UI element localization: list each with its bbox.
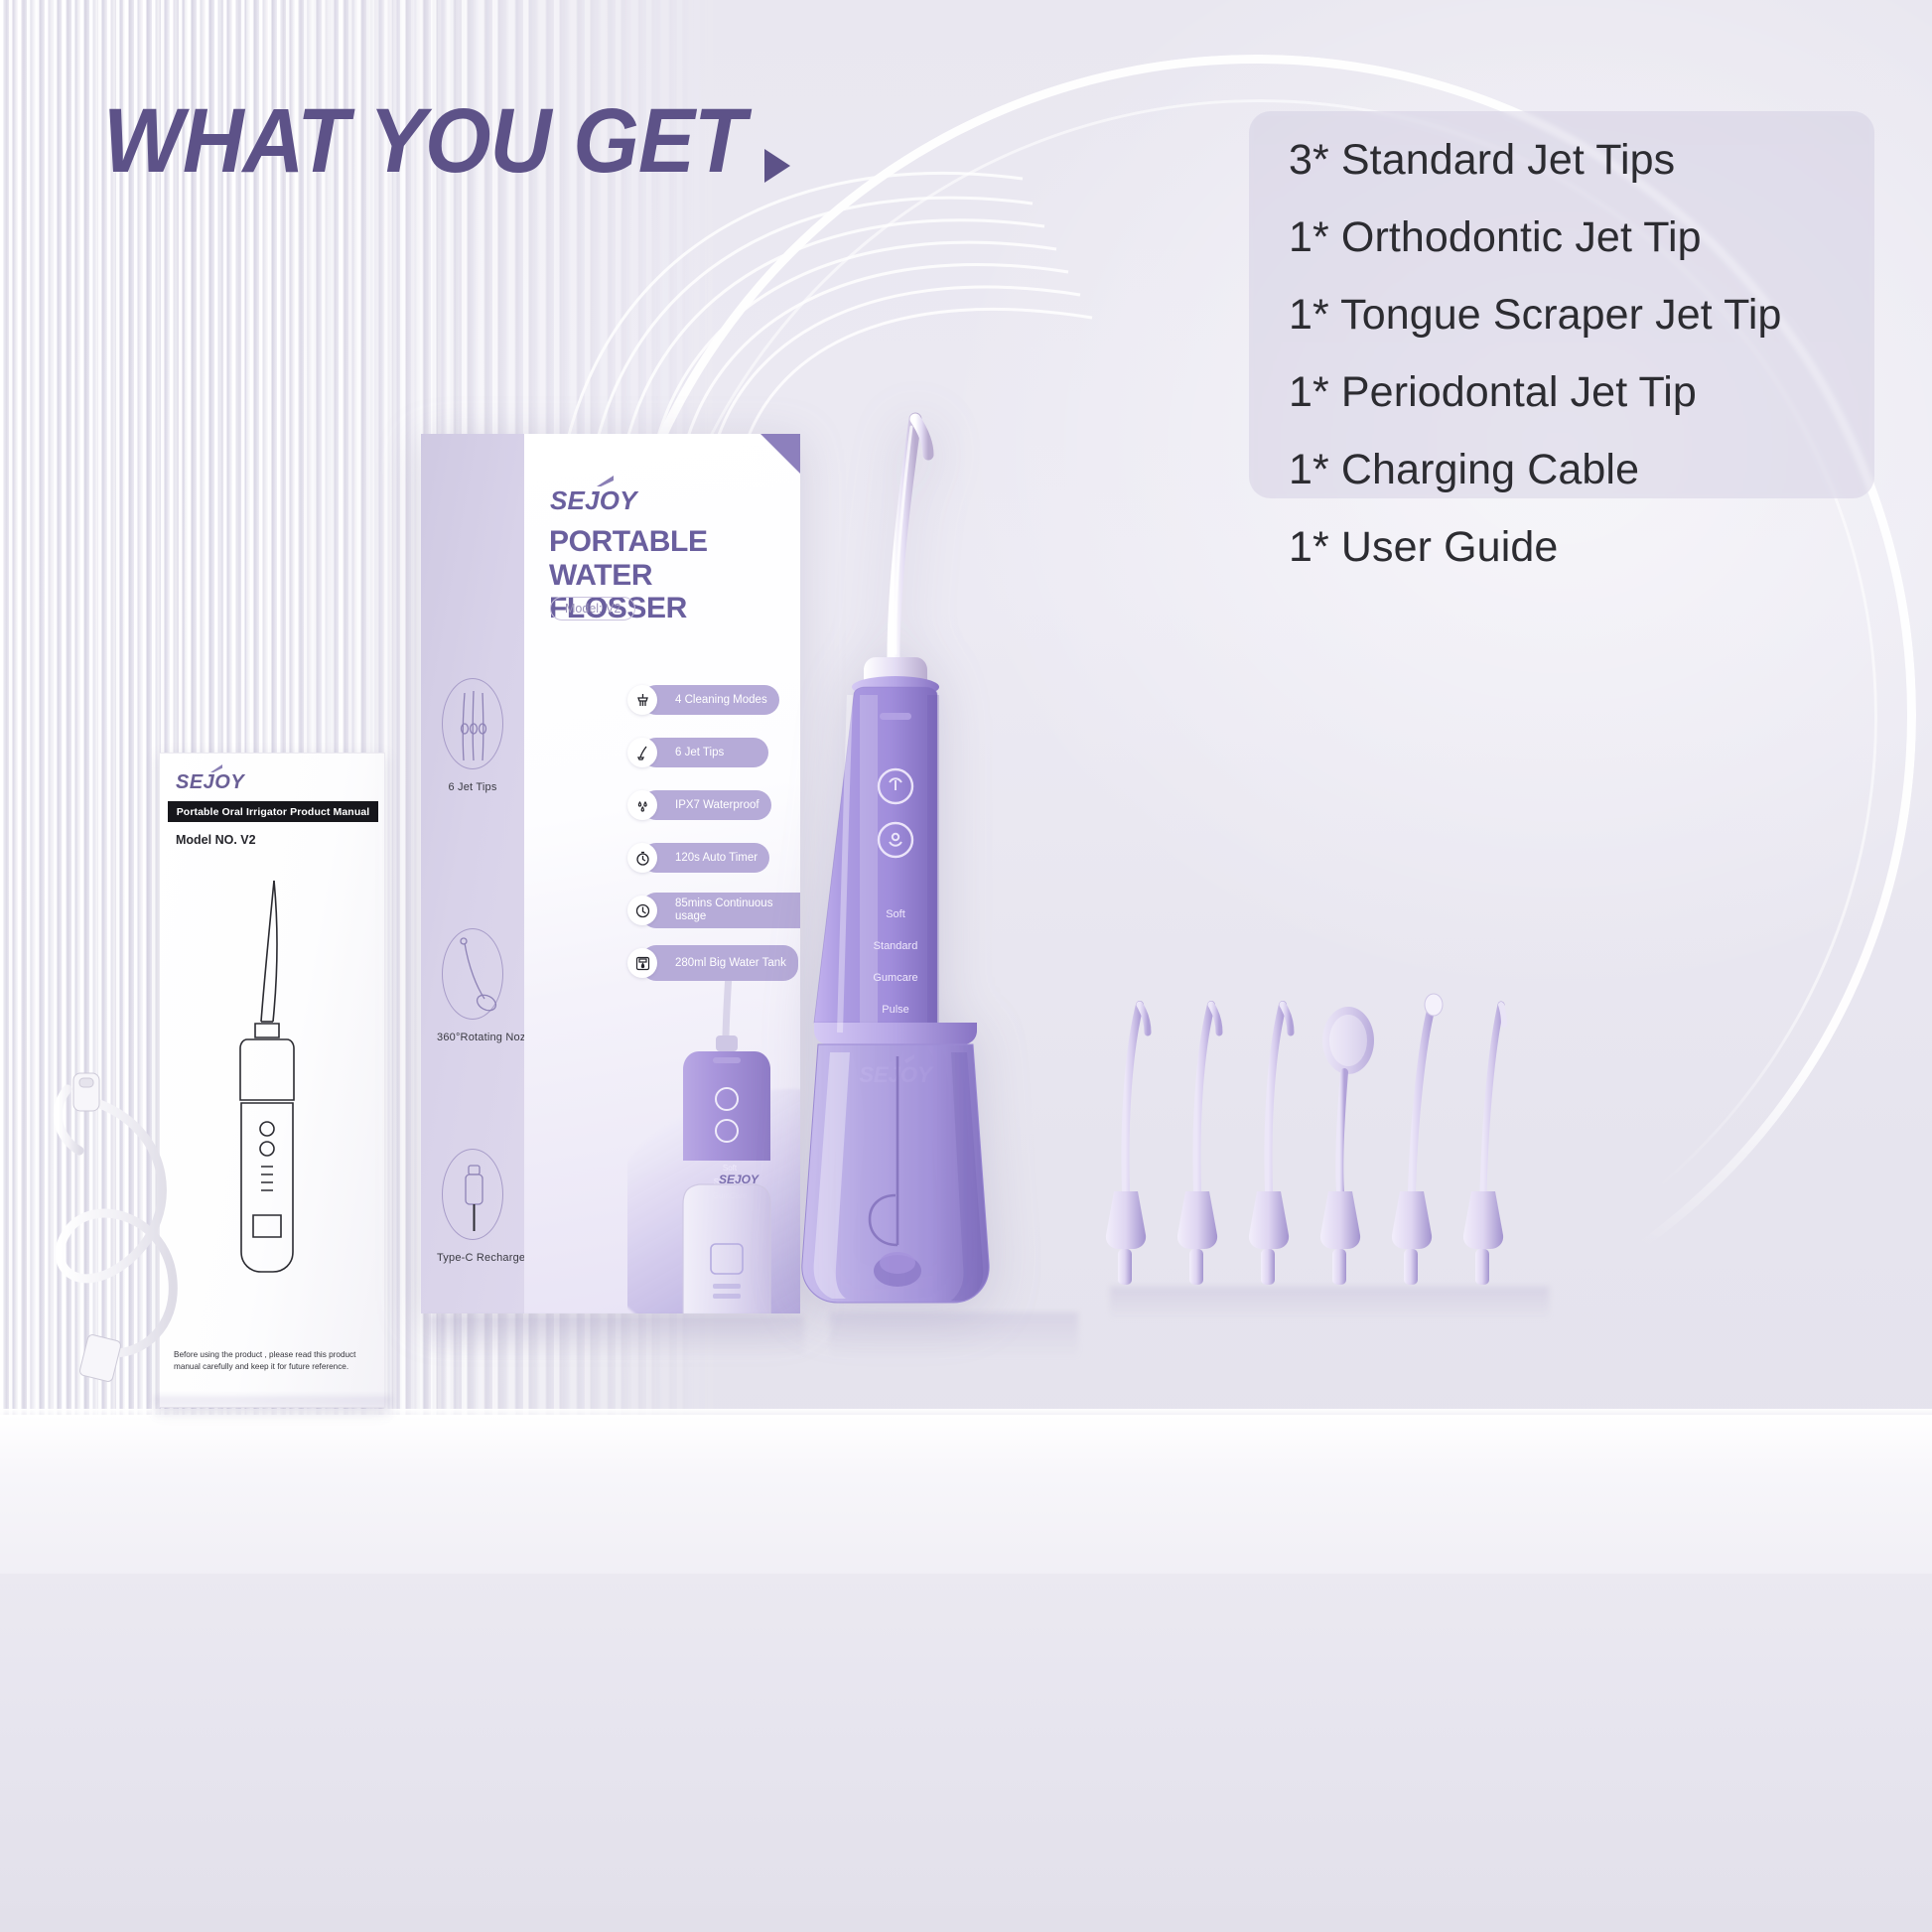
device-mode-label: Standard [874,940,918,952]
box-feature-badge: 6 Jet Tips [627,738,800,767]
box-reflection [427,1316,804,1358]
device-mode-label: Soft [886,908,905,920]
manual-brand-logo: SEJOY [176,771,244,794]
side-feature-rotating-nozzle: 360°Rotating Nozzle [437,928,508,1043]
device-reflection [830,1312,1078,1358]
badge-label: 6 Jet Tips [641,738,768,767]
badge-label: 85mins Continuous usage [641,893,800,928]
orthodontic-jet-tip [1392,994,1443,1285]
box-feature-badge: 280ml Big Water Tank [627,948,800,978]
badge-label: 280ml Big Water Tank [641,945,798,981]
box-side-panel: 6 Jet Tips 360°Rotating Nozzle [421,434,524,1313]
manual-reflection [154,1396,392,1420]
side-feature-label: Type-C Rechargeable [437,1252,508,1264]
tips-reflection [1110,1287,1549,1320]
box-photo-brand: SEJOY [719,1173,759,1186]
badge-label: 4 Cleaning Modes [641,685,779,715]
box-device-photo: Soft Standard GumCare . SEJOY [627,950,800,1313]
list-item: 1* Charging Cable [1289,449,1924,491]
box-feature-badge: 85mins Continuous usage [627,896,800,925]
box-brand-text: SEJOY [550,485,637,515]
side-feature-label: 6 Jet Tips [437,781,508,793]
manual-device-line-art [211,873,337,1290]
badge-label: 120s Auto Timer [641,843,769,873]
box-feature-badges: 4 Cleaning Modes 6 Jet Tips IPX7 Waterpr… [627,685,800,1001]
list-item: 1* Periodontal Jet Tip [1289,371,1924,414]
usb-c-cable-icon [442,1149,503,1240]
periodontal-jet-tip [1463,1005,1504,1285]
water-tank-icon [627,948,657,978]
device-mode-label: Pulse [882,1004,909,1016]
tongue-scraper-jet-tip [1320,1007,1374,1285]
timer-icon [627,843,657,873]
jet-tip-icon [627,738,657,767]
list-item: 1* Orthodontic Jet Tip [1289,216,1924,259]
side-feature-jet-tips: 6 Jet Tips [437,678,508,793]
list-item: 1* User Guide [1289,526,1924,569]
box-model-badge: Model: V2 [550,597,635,621]
manual-brand-text: SEJOY [176,771,244,793]
water-flosser-device: Soft Standard Gumcare Pulse SEJOY [832,397,1070,1330]
box-feature-badge: 120s Auto Timer [627,843,800,873]
jet-tips-group-icon [442,678,503,769]
manual-model-text: Model NO. V2 [176,833,256,847]
jet-tips-set [1110,993,1547,1320]
box-brand-logo: SEJOY [550,485,637,516]
box-front-panel: SEJOY PORTABLE WATER FLOSSER Model: V2 [524,434,800,1313]
svg-text:Soft: Soft [723,1164,738,1173]
side-feature-label: 360°Rotating Nozzle [437,1032,508,1043]
rotating-nozzle-icon [442,928,503,1020]
product-scene: WHAT YOU GET 3* Standard Jet Tips 1* Ort… [0,0,1932,1932]
water-drop-icon [627,790,657,820]
list-item: 3* Standard Jet Tips [1289,139,1924,182]
standard-jet-tip [1106,1005,1148,1285]
product-box: 6 Jet Tips 360°Rotating Nozzle [421,434,800,1313]
badge-label: IPX7 Waterproof [641,790,771,820]
brush-icon [627,685,657,715]
contents-list: 3* Standard Jet Tips 1* Orthodontic Jet … [1289,139,1924,604]
clock-icon [627,896,657,925]
box-device-illustration: Soft Standard GumCare . [627,950,800,1313]
box-title-line1: PORTABLE WATER [549,525,708,592]
shelf-front [0,1574,1932,1932]
device-mode-label: Gumcare [873,972,917,984]
box-feature-badge: IPX7 Waterproof [627,790,800,820]
box-corner-accent [760,434,800,474]
standard-jet-tip [1177,1005,1219,1285]
manual-title-band: Portable Oral Irrigator Product Manual [168,801,378,822]
box-feature-badge: 4 Cleaning Modes [627,685,800,715]
list-item: 1* Tongue Scraper Jet Tip [1289,294,1924,337]
charging-cable [34,1067,222,1385]
standard-jet-tip [1249,1005,1291,1285]
side-feature-type-c: Type-C Rechargeable [437,1149,508,1264]
